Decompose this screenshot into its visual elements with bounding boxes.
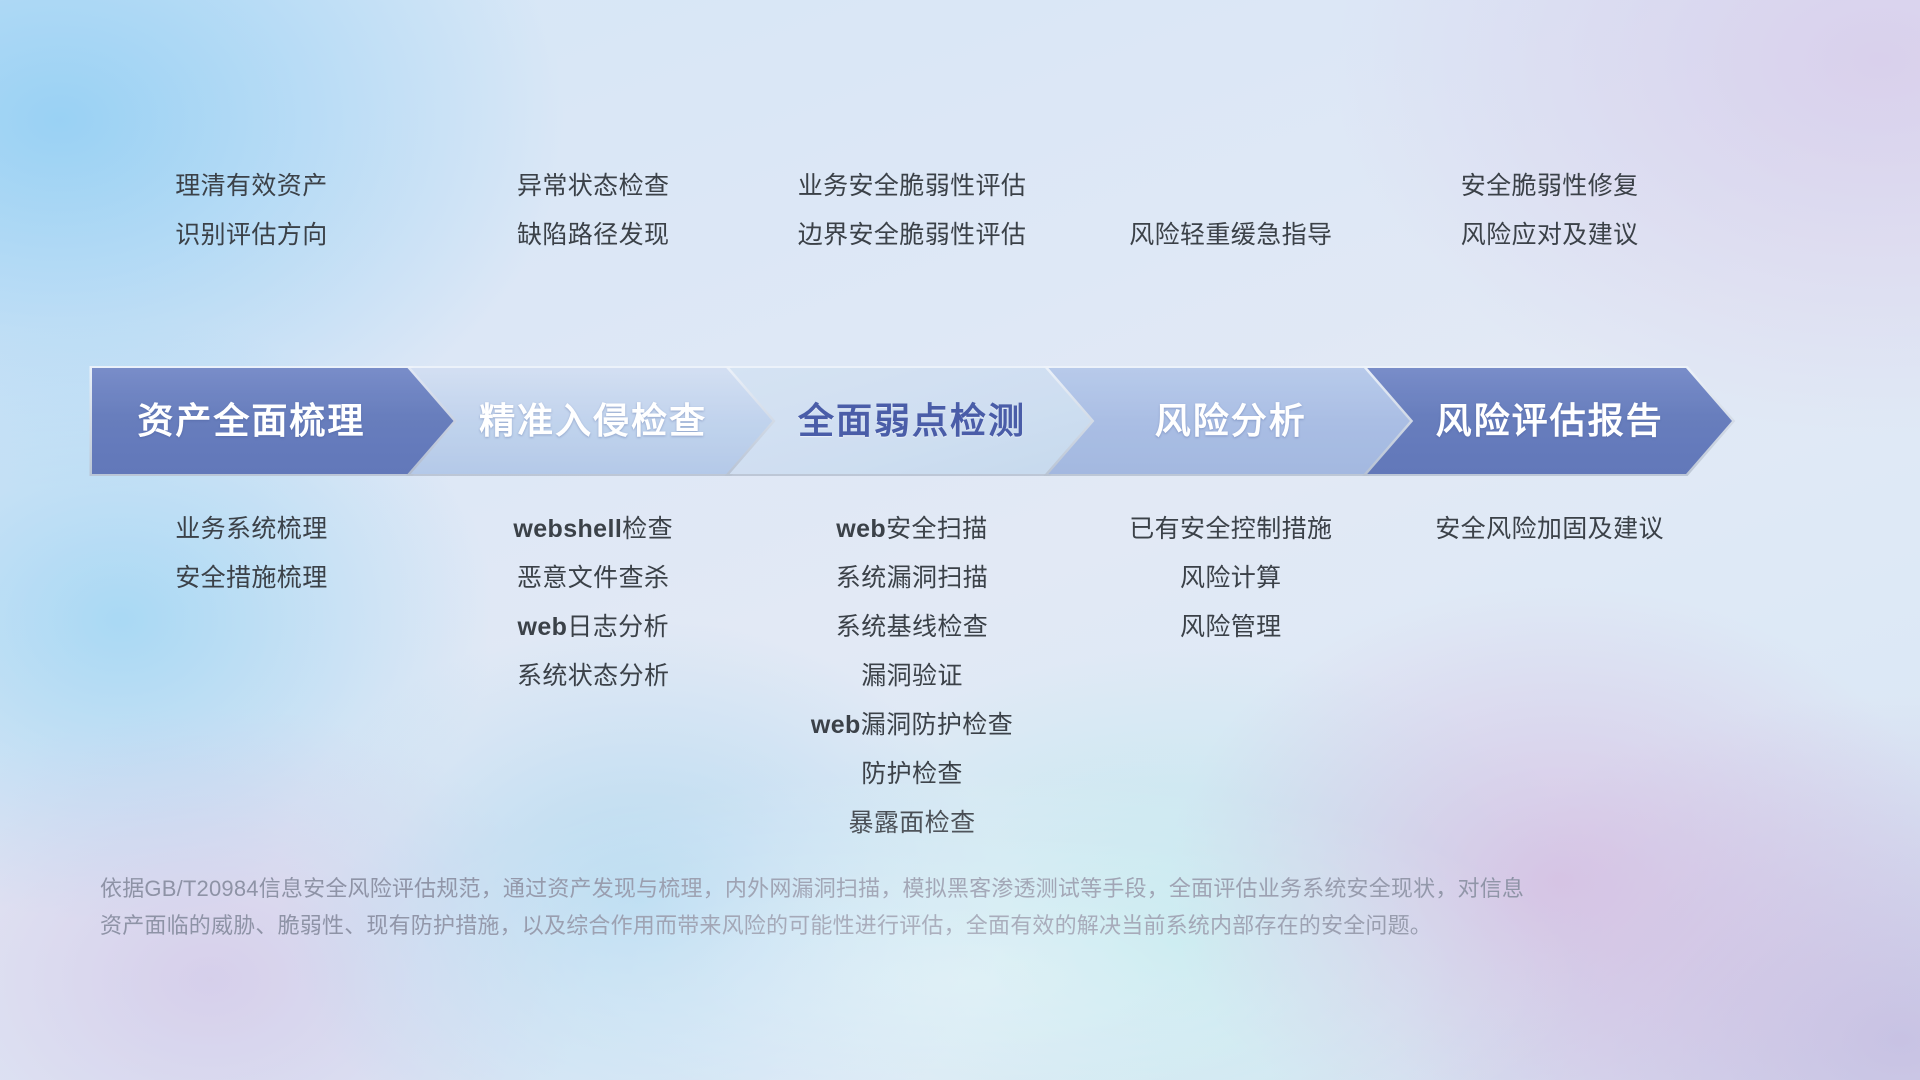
bottom-item: 安全风险加固及建议 <box>1330 505 1770 554</box>
bottom-item: 风险管理 <box>1011 603 1451 652</box>
top-descriptor-col-5: 安全脆弱性修复风险应对及建议 <box>1330 162 1770 260</box>
process-chevron-band: 资产全面梳理精准入侵检查全面弱点检测风险分析风险评估报告 <box>0 366 1920 476</box>
top-item: 业务安全脆弱性评估 <box>692 162 1132 211</box>
bottom-item: 防护检查 <box>692 750 1132 799</box>
chevron-sheen-3 <box>730 368 1095 474</box>
top-item: 风险应对及建议 <box>1330 211 1770 260</box>
bottom-detail-col-5: 安全风险加固及建议 <box>1330 505 1770 554</box>
chevron-sheen-2 <box>411 368 776 474</box>
bottom-item: 暴露面检查 <box>692 799 1132 848</box>
footer-line-1: 依据GB/T20984信息安全风险评估规范，通过资产发现与梳理，内外网漏洞扫描，… <box>100 870 1840 907</box>
chevron-sheen-4 <box>1048 368 1413 474</box>
footer-line-2: 资产面临的威胁、脆弱性、现有防护措施，以及综合作用而带来风险的可能性进行评估，全… <box>100 907 1840 944</box>
chevron-sheen-1 <box>92 368 457 474</box>
footer-description: 依据GB/T20984信息安全风险评估规范，通过资产发现与梳理，内外网漏洞扫描，… <box>100 870 1840 944</box>
bottom-item: 风险计算 <box>1011 554 1451 603</box>
chevron-sheen-5 <box>1367 368 1732 474</box>
bottom-item: 漏洞验证 <box>692 652 1132 701</box>
bottom-item: web漏洞防护检查 <box>692 701 1132 750</box>
infographic-canvas: 理清有效资产识别评估方向异常状态检查缺陷路径发现业务安全脆弱性评估边界安全脆弱性… <box>0 0 1920 1080</box>
chevron-shapes <box>0 366 1920 476</box>
top-item: 安全脆弱性修复 <box>1330 162 1770 211</box>
